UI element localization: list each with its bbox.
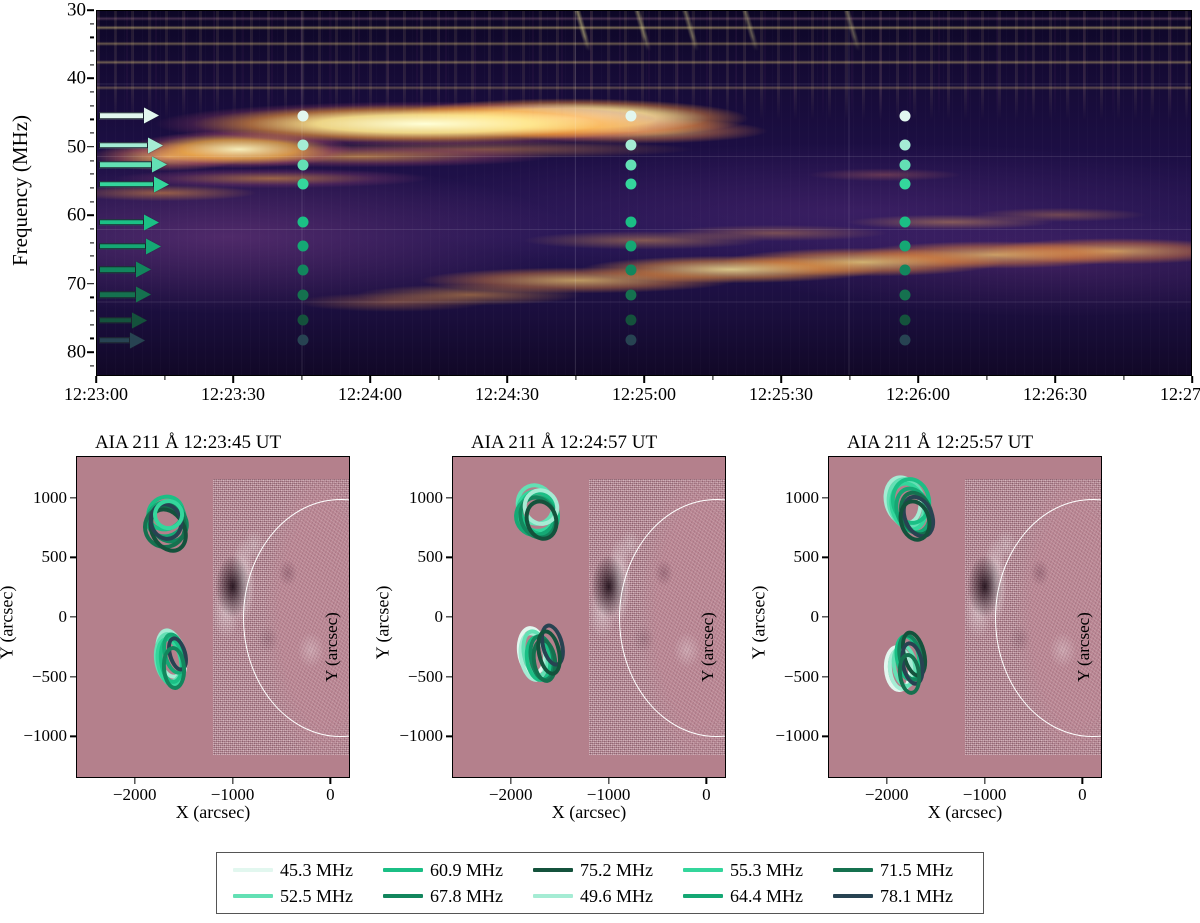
spectrum-y-axis-label: Frequency (MHz) (6, 70, 36, 310)
legend-label: 60.9 MHz (430, 860, 503, 881)
spectrum-y-minor-tick (90, 228, 94, 229)
spectrum-y-minor-tick (90, 201, 94, 202)
spectrum-x-tick-label: 12:25:00 (612, 384, 676, 405)
frequency-dot-12:25:57-45.3 (900, 110, 911, 121)
spectrum-x-tick-mark (917, 376, 919, 383)
frequency-dot-12:25:57-60.9 (900, 217, 911, 228)
aia-y-axis-label-text: Y (arcsec) (373, 585, 394, 659)
frequency-dot-12:24:57-45.3 (626, 110, 637, 121)
aia-x-tick-group: −2000−10000 (76, 778, 350, 804)
aia-y-tick-label: −1000 (775, 726, 819, 746)
spectrum-y-minor-tick (90, 50, 94, 51)
spectrum-y-tick-mark (87, 351, 94, 353)
aia-y-tick-label: −500 (784, 667, 819, 687)
aia-y-tick-group: 10005000−500−1000 (394, 456, 452, 778)
frequency-dot-12:25:57-78.1 (900, 335, 911, 346)
spectrum-plot-area (96, 10, 1192, 376)
legend-label: 64.4 MHz (730, 886, 803, 907)
frequency-dot-12:24:57-71.5 (626, 289, 637, 300)
spectrum-y-tick-label: 40 (67, 69, 86, 88)
frequency-dot-12:24:57-78.1 (626, 335, 637, 346)
aia-inner-y-axis-label: Y (arcsec) (321, 572, 343, 722)
spectrum-y-tick-label: 60 (67, 206, 86, 225)
frequency-dot-12:24:57-49.6 (626, 140, 637, 151)
spectrum-x-minor-tick (575, 376, 576, 380)
frequency-dot-12:23:45-45.3 (297, 110, 308, 121)
aia-x-axis-label: X (arcsec) (452, 802, 726, 823)
legend-item-64.4: 64.4 MHz (675, 886, 825, 907)
aia-y-tick-group: 10005000−500−1000 (770, 456, 828, 778)
spectrum-x-tick-mark (369, 376, 371, 383)
aia-y-axis-label: Y (arcsec) (0, 522, 20, 722)
legend-color-swatch (233, 894, 273, 898)
aia-panel-title: AIA 211 Å 12:24:57 UT (364, 432, 764, 454)
aia-image-plot-area: Y (arcsec) (828, 456, 1102, 778)
legend-item-55.3: 55.3 MHz (675, 860, 825, 881)
legend-color-swatch (533, 868, 573, 872)
aia-y-tick-label: −500 (408, 667, 443, 687)
aia-y-tick-label: −1000 (399, 726, 443, 746)
frequency-dot-12:25:57-55.3 (900, 179, 911, 190)
spectrum-x-minor-tick (712, 376, 713, 380)
spectrum-y-minor-tick (90, 324, 94, 325)
spectrum-x-tick-label: 12:26:00 (886, 384, 950, 405)
spectrum-x-minor-tick (986, 376, 987, 380)
aia-y-axis-label-text: Y (arcsec) (749, 585, 770, 659)
aia-x-tick-mark (510, 778, 511, 784)
spectrum-y-minor-tick (90, 105, 94, 106)
legend-item-52.5: 52.5 MHz (225, 886, 375, 907)
frequency-dot-12:23:45-71.5 (297, 289, 308, 300)
aia-inner-y-axis-label: Y (arcsec) (1073, 572, 1095, 722)
frequency-dot-12:25:57-49.6 (900, 140, 911, 151)
frequency-dot-12:24:57-55.3 (626, 179, 637, 190)
aia-panel-title: AIA 211 Å 12:23:45 UT (0, 432, 388, 454)
legend-label: 45.3 MHz (280, 860, 353, 881)
legend-color-swatch (683, 868, 723, 872)
spectrum-x-tick-group: 12:23:0012:23:3012:24:0012:24:3012:25:00… (96, 376, 1192, 406)
aia-inner-y-axis-label: Y (arcsec) (697, 572, 719, 722)
frequency-dot-12:23:45-78.1 (297, 335, 308, 346)
frequency-dot-12:25:57-52.5 (900, 159, 911, 170)
legend-label: 78.1 MHz (880, 886, 953, 907)
spectrum-y-tick-mark (87, 283, 94, 285)
legend-label: 52.5 MHz (280, 886, 353, 907)
legend-label: 67.8 MHz (430, 886, 503, 907)
dynamic-spectrum-panel: Frequency (MHz) 304050607080 12:23:0012:… (0, 0, 1200, 410)
aia-y-tick-label: 1000 (33, 488, 67, 508)
spectrum-x-tick-label: 12:23:00 (64, 384, 128, 405)
spectrum-y-minor-tick (90, 242, 94, 243)
frequency-dot-12:23:45-67.8 (297, 264, 308, 275)
spectrum-x-tick-mark (232, 376, 234, 383)
frequency-dot-12:25:57-67.8 (900, 264, 911, 275)
spectrum-x-tick-mark (95, 376, 97, 383)
spectrum-y-minor-tick (90, 91, 94, 92)
aia-image-plot-area: Y (arcsec) (452, 456, 726, 778)
spectrum-y-minor-tick (90, 365, 94, 366)
spectrum-y-tick-mark (87, 9, 94, 11)
legend-color-swatch (833, 868, 873, 872)
frequency-dot-12:25:57-64.4 (900, 241, 911, 252)
frequency-dot-12:23:45-55.3 (297, 179, 308, 190)
spectrum-y-minor-tick (90, 174, 94, 175)
legend-item-49.6: 49.6 MHz (525, 886, 675, 907)
spectrum-y-minor-tick (90, 160, 94, 161)
spectrum-y-tick-label: 50 (67, 137, 86, 156)
aia-y-tick-label: 0 (59, 607, 68, 627)
spectrum-y-tick-label: 30 (67, 1, 86, 20)
spectrum-y-tick-mark (87, 214, 94, 216)
frequency-dot-12:24:57-75.2 (626, 315, 637, 326)
legend-item-60.9: 60.9 MHz (375, 860, 525, 881)
spectrum-x-tick-mark (1054, 376, 1056, 383)
legend-item-75.2: 75.2 MHz (525, 860, 675, 881)
aia-x-tick-mark (608, 778, 609, 784)
spectrum-x-tick-mark (643, 376, 645, 383)
spectrum-y-tick-label: 70 (67, 274, 86, 293)
aia-y-tick-label: 500 (418, 547, 444, 567)
spectrum-x-minor-tick (164, 376, 165, 380)
spectrum-x-tick-label: 12:24:00 (338, 384, 402, 405)
legend-color-swatch (533, 894, 573, 898)
spectrum-x-tick-label: 12:23:30 (201, 384, 265, 405)
aia-x-axis-label: X (arcsec) (76, 802, 350, 823)
aia-image-plot-area: Y (arcsec) (76, 456, 350, 778)
legend-color-swatch (383, 868, 423, 872)
legend-color-swatch (233, 868, 273, 872)
frequency-dot-12:25:57-71.5 (900, 289, 911, 300)
spectrum-x-tick-label: 12:24:30 (475, 384, 539, 405)
legend-item-45.3: 45.3 MHz (225, 860, 375, 881)
aia-x-tick-mark (330, 778, 331, 784)
frequency-legend: 45.3 MHz52.5 MHz60.9 MHz67.8 MHz75.2 MHz… (216, 852, 984, 914)
aia-x-tick-mark (134, 778, 135, 784)
spectrum-x-tick-label: 12:26:30 (1023, 384, 1087, 405)
spectrum-y-minor-tick (90, 119, 94, 120)
frequency-dot-12:24:57-52.5 (626, 159, 637, 170)
spectrum-x-tick-label: 12:25:30 (749, 384, 813, 405)
aia-y-tick-label: −1000 (23, 726, 67, 746)
legend-color-swatch (833, 894, 873, 898)
aia-x-axis-label: X (arcsec) (828, 802, 1102, 823)
aia-inner-y-axis-label-text: Y (arcsec) (322, 612, 342, 682)
aia-panel-title: AIA 211 Å 12:25:57 UT (740, 432, 1140, 454)
aia-y-tick-label: 500 (42, 547, 68, 567)
legend-label: 55.3 MHz (730, 860, 803, 881)
spectrum-y-axis-label-text: Frequency (MHz) (9, 114, 34, 265)
aia-y-tick-label: 0 (435, 607, 444, 627)
spectrum-y-minor-tick (90, 297, 94, 298)
spectrum-y-tick-group: 304050607080 (36, 10, 94, 376)
aia-panel-3: AIA 211 Å 12:25:57 UTY (arcsec)10005000−… (740, 432, 1140, 840)
spectrum-y-minor-tick (90, 310, 94, 311)
spectrum-y-minor-tick (90, 64, 94, 65)
legend-item-71.5: 71.5 MHz (825, 860, 975, 881)
spectrum-x-minor-tick (849, 376, 850, 380)
spectrum-x-tick-mark (1191, 376, 1193, 383)
aia-y-axis-label: Y (arcsec) (370, 522, 396, 722)
aia-y-tick-label: −500 (32, 667, 67, 687)
frequency-dot-12:23:45-52.5 (297, 159, 308, 170)
legend-color-swatch (683, 894, 723, 898)
spectrum-y-tick-mark (87, 146, 94, 148)
legend-color-swatch (383, 894, 423, 898)
aia-inner-y-axis-label-text: Y (arcsec) (698, 612, 718, 682)
spectrum-x-minor-tick (438, 376, 439, 380)
spectrum-y-minor-tick (90, 338, 94, 339)
aia-panel-2: AIA 211 Å 12:24:57 UTY (arcsec)10005000−… (364, 432, 764, 840)
aia-x-tick-group: −2000−10000 (828, 778, 1102, 804)
spectrum-y-minor-tick (90, 133, 94, 134)
frequency-dot-12:23:45-75.2 (297, 315, 308, 326)
aia-y-tick-label: 1000 (785, 488, 819, 508)
aia-y-tick-group: 10005000−500−1000 (18, 456, 76, 778)
aia-panel-1: AIA 211 Å 12:23:45 UTY (arcsec)10005000−… (0, 432, 388, 840)
aia-y-tick-label: 500 (794, 547, 820, 567)
spectrum-y-tick-label: 80 (67, 343, 86, 362)
frequency-dot-12:24:57-67.8 (626, 264, 637, 275)
spectrum-x-minor-tick (1123, 376, 1124, 380)
aia-y-axis-label-text: Y (arcsec) (0, 585, 18, 659)
spectrum-y-minor-tick (90, 256, 94, 257)
aia-x-tick-mark (706, 778, 707, 784)
legend-label: 75.2 MHz (580, 860, 653, 881)
spectrum-y-minor-tick (90, 187, 94, 188)
frequency-dot-12:23:45-49.6 (297, 140, 308, 151)
spectrum-x-tick-mark (506, 376, 508, 383)
aia-y-tick-label: 1000 (409, 488, 443, 508)
aia-y-tick-label: 0 (811, 607, 820, 627)
spectrum-y-minor-tick (90, 269, 94, 270)
aia-x-tick-mark (1082, 778, 1083, 784)
legend-item-78.1: 78.1 MHz (825, 886, 975, 907)
legend-label: 49.6 MHz (580, 886, 653, 907)
frequency-dot-12:25:57-75.2 (900, 315, 911, 326)
spectrum-y-minor-tick (90, 37, 94, 38)
frequency-dot-12:23:45-64.4 (297, 241, 308, 252)
aia-x-tick-mark (984, 778, 985, 784)
frequency-dot-12:24:57-60.9 (626, 217, 637, 228)
aia-inner-y-axis-label-text: Y (arcsec) (1074, 612, 1094, 682)
frequency-dot-12:24:57-64.4 (626, 241, 637, 252)
aia-x-tick-mark (232, 778, 233, 784)
spectrum-y-minor-tick (90, 23, 94, 24)
aia-x-tick-mark (886, 778, 887, 784)
aia-y-axis-label: Y (arcsec) (746, 522, 772, 722)
legend-label: 71.5 MHz (880, 860, 953, 881)
spectrum-x-minor-tick (301, 376, 302, 380)
spectrum-x-tick-label: 12:27:00 (1160, 384, 1200, 405)
aia-x-tick-group: −2000−10000 (452, 778, 726, 804)
spectrum-x-tick-mark (780, 376, 782, 383)
frequency-dot-group (97, 11, 1191, 375)
spectrum-y-tick-mark (87, 78, 94, 80)
legend-item-67.8: 67.8 MHz (375, 886, 525, 907)
frequency-dot-12:23:45-60.9 (297, 217, 308, 228)
